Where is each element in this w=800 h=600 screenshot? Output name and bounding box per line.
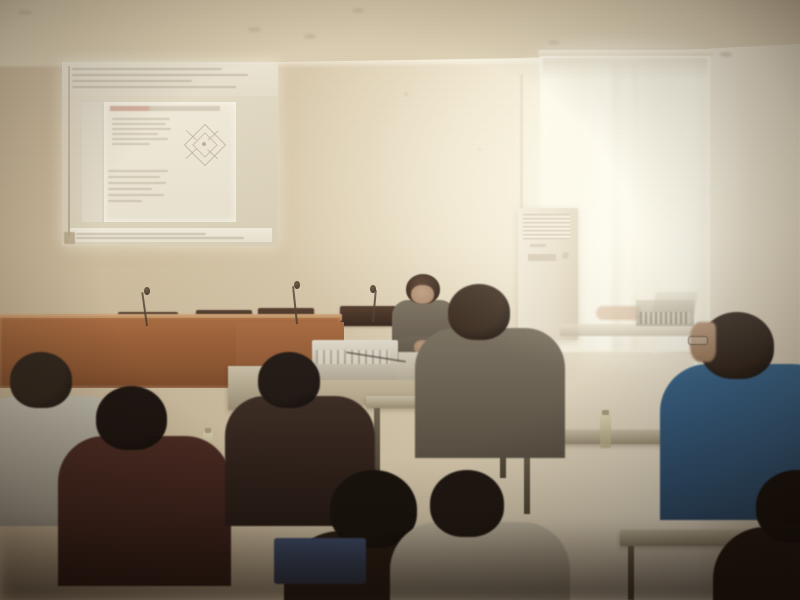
foreground-shadow-mass	[0, 520, 800, 600]
microphone-head	[144, 287, 150, 295]
eyeglasses-icon	[688, 336, 708, 345]
microphone-head	[294, 281, 300, 289]
panel-desk-chair-back	[340, 306, 396, 326]
recessed-fixture	[352, 8, 364, 13]
laptop-keyboard[interactable]	[640, 312, 690, 324]
air-conditioner-knob[interactable]	[562, 252, 569, 259]
projection-screen	[62, 62, 278, 246]
attendee-gray-shirt-head	[10, 352, 72, 408]
slide-paragraph-left	[112, 118, 172, 148]
slide-diagram	[182, 124, 226, 166]
attendee-dark-hair-center-head	[258, 352, 320, 408]
air-conditioner-grille-icon	[523, 214, 570, 240]
wall-spot	[404, 92, 408, 96]
recessed-fixture	[304, 34, 316, 39]
screen-pull-cord[interactable]	[68, 66, 70, 236]
wall-spot	[478, 148, 481, 151]
attendee-olive-jacket-torso	[415, 328, 565, 458]
slide-browser-toolbar	[62, 62, 278, 96]
water-bottle-cap	[205, 428, 211, 433]
attendee-olive-jacket-head	[448, 284, 510, 340]
attendee-maroon-shirt-head	[96, 386, 167, 450]
water-bottle-cap	[602, 410, 608, 415]
microphone-head	[370, 285, 376, 293]
air-conditioner-logo	[530, 244, 546, 247]
slide-status-bar	[68, 228, 272, 242]
screen-pull-handle[interactable]	[64, 232, 75, 244]
presenter-face	[411, 285, 434, 304]
slide-sidebar	[82, 102, 102, 222]
slide-paragraph-lower	[108, 170, 170, 216]
photo-canvas: Seminar room presentation Projection scr…	[0, 0, 800, 600]
water-bottle	[600, 414, 611, 448]
recessed-fixture	[248, 27, 261, 32]
air-conditioner-control-panel[interactable]	[528, 254, 556, 261]
slide-title-bar	[110, 106, 220, 111]
recessed-fixture	[18, 10, 32, 15]
slide-table	[182, 174, 230, 214]
